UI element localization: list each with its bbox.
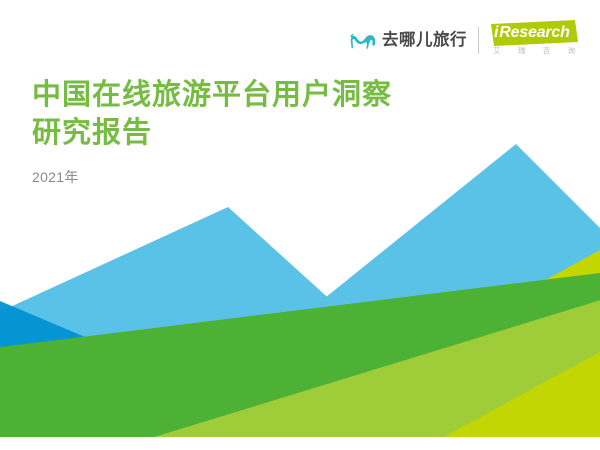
qunar-logo-text: 去哪儿旅行 [382,32,467,49]
report-cover-slide: 去哪儿旅行 i Research 艾 瑞 咨 询 中国在线旅游平台用户洞察 研究… [0,0,600,450]
report-year-subtitle: 2021年 [32,170,392,184]
logo-divider [478,27,479,54]
iresearch-sub-char-2: 瑞 [518,47,526,55]
camel-icon [350,29,376,51]
qunar-travel-logo[interactable]: 去哪儿旅行 [350,29,478,51]
report-title-line-2: 研究报告 [32,114,392,152]
iresearch-sub-char-1: 艾 [493,47,501,55]
iresearch-research-text: Research [499,25,569,41]
shape-blue-peak-right [300,144,600,450]
iresearch-wordmark: i Research [494,22,578,44]
shape-green-bright-right [236,228,600,450]
shape-bottom-white-band [0,437,600,450]
shape-green-sliver-right [420,330,600,450]
iresearch-i-letter: i [494,25,498,41]
report-title-line-1: 中国在线旅游平台用户洞察 [32,76,392,114]
background-artwork [0,0,600,450]
shape-green-overlay-mid [112,288,600,450]
title-block: 中国在线旅游平台用户洞察 研究报告 2021年 [32,76,392,184]
iresearch-chinese-subtext: 艾 瑞 咨 询 [493,47,575,55]
shape-green-field-dark [0,268,600,450]
iresearch-logo[interactable]: i Research 艾 瑞 咨 询 [490,20,578,60]
shape-blue-peak-left [0,207,496,450]
iresearch-sub-char-4: 询 [567,47,575,55]
iresearch-sub-char-3: 咨 [543,47,551,55]
logo-bar: 去哪儿旅行 i Research 艾 瑞 咨 询 [350,20,578,60]
shape-blue-wedge-left [0,284,352,450]
